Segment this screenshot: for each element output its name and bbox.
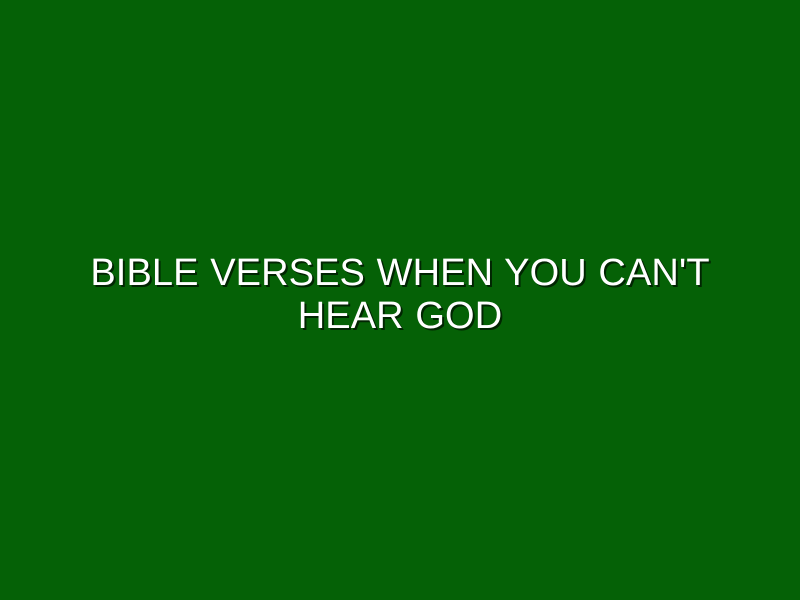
featured-image-card: BIBLE VERSES WHEN YOU CAN'T HEAR GOD [0,0,800,600]
page-title: BIBLE VERSES WHEN YOU CAN'T HEAR GOD [70,252,730,338]
headline-block: BIBLE VERSES WHEN YOU CAN'T HEAR GOD [70,252,730,338]
